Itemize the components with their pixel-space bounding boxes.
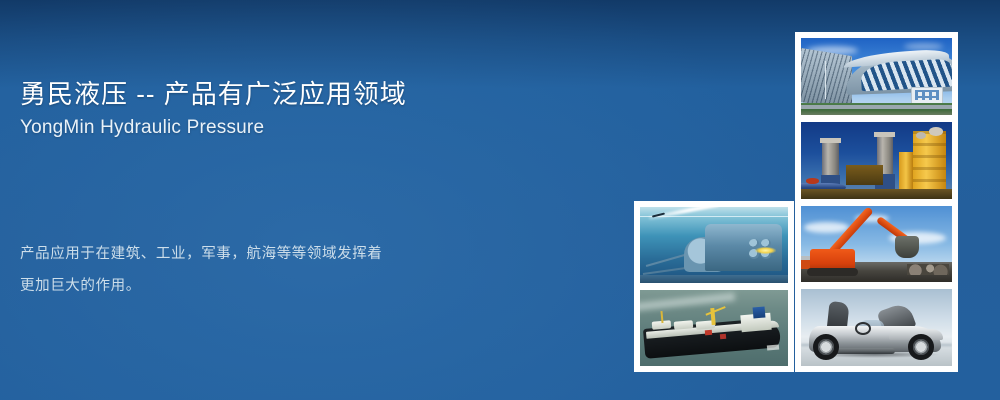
banner-copy: 勇民液压 -- 产品有广泛应用领域 YongMin Hydraulic Pres… [20, 0, 620, 400]
gallery-panel-middle [634, 201, 794, 372]
banner-description: 产品应用于在建筑、工业，军事，航海等等领域发挥着 更加巨大的作用。 [20, 238, 450, 302]
page-subtitle: YongMin Hydraulic Pressure [20, 116, 264, 140]
description-line-1: 产品应用于在建筑、工业，军事，航海等等领域发挥着 [20, 238, 450, 270]
cloud [904, 43, 943, 50]
excavator-track [807, 268, 858, 276]
pressure-drum [929, 127, 943, 135]
roadway [801, 105, 952, 109]
pressure-drum [916, 132, 927, 139]
ship-deck [640, 275, 788, 283]
ship-bow-marking [767, 344, 779, 350]
deck-equipment [720, 334, 726, 339]
pipeline-valve [806, 178, 820, 184]
gallery-panel-right [795, 32, 958, 372]
ship-mast [660, 311, 663, 323]
stack-cap [820, 138, 841, 143]
photo-cargo-ship [640, 290, 788, 366]
turbine-housing [846, 165, 882, 185]
description-line-2: 更加巨大的作用。 [20, 270, 450, 302]
rear-wheel [908, 334, 934, 360]
process-tower-right [913, 131, 946, 191]
deck-equipment [705, 330, 713, 336]
photo-concept-car [801, 289, 952, 366]
plant-ground [801, 189, 952, 199]
promo-banner: 勇民液压 -- 产品有广泛应用领域 YongMin Hydraulic Pres… [0, 0, 1000, 400]
photo-modern-building [801, 38, 952, 115]
front-wheel [813, 334, 839, 360]
page-title: 勇民液压 -- 产品有广泛应用领域 [20, 79, 407, 109]
ship-funnel [752, 306, 765, 318]
louvered-facade [801, 48, 852, 110]
photo-industrial-plant [801, 122, 952, 199]
scrap-debris-pile [907, 264, 949, 275]
photo-excavator [801, 206, 952, 283]
light-pole [825, 61, 826, 99]
annex-building [911, 87, 943, 104]
excavator-grapple [895, 236, 919, 257]
launch-flash [755, 247, 776, 255]
process-tower-mid [899, 152, 913, 190]
photo-missile-launch [640, 207, 788, 283]
stack-cap [874, 132, 895, 137]
